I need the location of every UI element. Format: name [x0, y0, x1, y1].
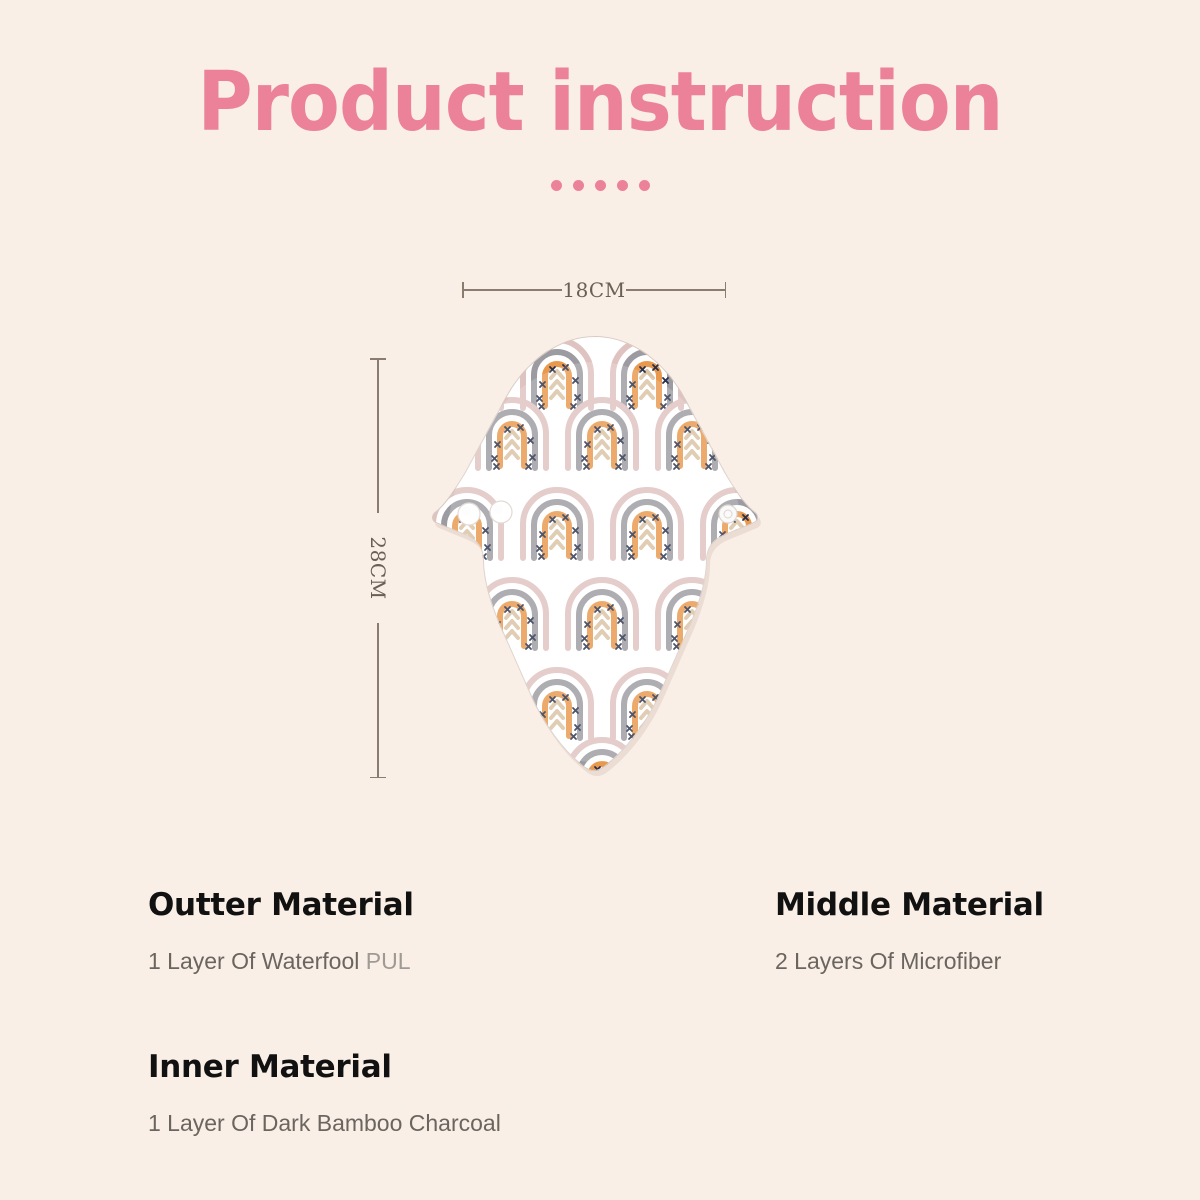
dimension-line-right [626, 289, 726, 291]
spec-desc-inner: 1 Layer Of Dark Bamboo Charcoal [148, 1084, 501, 1136]
divider-dot [595, 180, 606, 191]
spec-desc-outer-main: 1 Layer Of Waterfool [148, 948, 366, 974]
dimension-line-bottom [377, 623, 379, 778]
spec-desc-outer-muted: PUL [366, 948, 411, 974]
height-dimension-marker: 28CM [360, 358, 396, 778]
divider-dot [639, 180, 650, 191]
spec-title-outer: Outter Material [148, 888, 414, 922]
spec-title-middle: Middle Material [775, 888, 1044, 922]
product-image-cloth-pad [425, 332, 765, 784]
page-title: Product instruction [48, 0, 1152, 144]
divider-dot [617, 180, 628, 191]
divider-dot [551, 180, 562, 191]
height-dimension-label: 28CM [366, 536, 390, 599]
spec-block-inner-material: Inner Material 1 Layer Of Dark Bamboo Ch… [148, 1050, 501, 1136]
dimension-end-cap-bottom [370, 777, 386, 779]
spec-block-outer-material: Outter Material 1 Layer Of Waterfool PUL [148, 888, 414, 974]
spec-block-middle-material: Middle Material 2 Layers Of Microfiber [775, 888, 1044, 974]
header: Product instruction [0, 0, 1200, 191]
pad-pattern [425, 336, 765, 784]
dimension-end-cap-right [725, 282, 727, 298]
spec-desc-outer: 1 Layer Of Waterfool PUL [148, 922, 414, 974]
spec-desc-middle: 2 Layers Of Microfiber [775, 922, 1044, 974]
divider-dot [573, 180, 584, 191]
spec-title-inner: Inner Material [148, 1050, 501, 1084]
dimension-line-top [377, 358, 379, 513]
dot-divider [0, 180, 1200, 191]
width-dimension-marker: 18CM [462, 272, 726, 308]
